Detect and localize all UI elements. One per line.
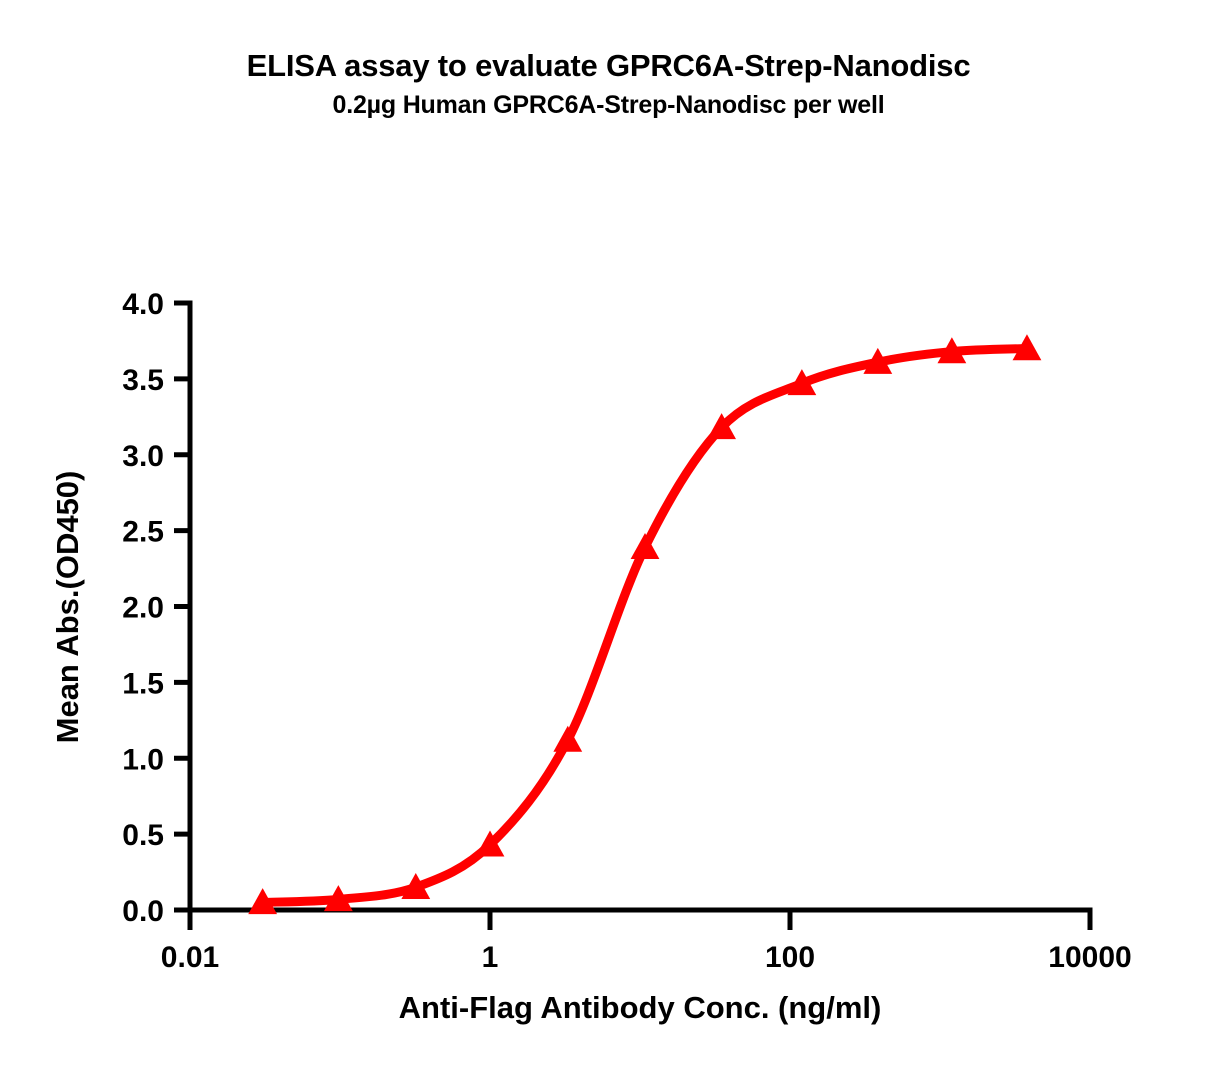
x-tick-label: 10000 bbox=[1048, 941, 1131, 974]
x-tick-label: 100 bbox=[765, 941, 815, 974]
y-axis-title: Mean Abs.(OD450) bbox=[50, 471, 85, 744]
y-tick-label: 3.5 bbox=[122, 364, 164, 397]
y-axis-tick-labels: 0.00.51.01.52.02.53.03.54.0 bbox=[122, 288, 164, 928]
data-point-marker bbox=[553, 726, 582, 752]
series-line bbox=[263, 349, 1027, 903]
y-tick-label: 2.0 bbox=[122, 592, 164, 625]
x-axis-ticks bbox=[190, 910, 1090, 930]
y-tick-label: 1.0 bbox=[122, 743, 164, 776]
data-series-group bbox=[248, 334, 1041, 914]
y-tick-label: 1.5 bbox=[122, 667, 164, 700]
x-axis-title: Anti-Flag Antibody Conc. (ng/ml) bbox=[399, 990, 882, 1025]
y-tick-label: 0.5 bbox=[122, 819, 164, 852]
y-tick-label: 0.0 bbox=[122, 895, 164, 928]
y-tick-label: 4.0 bbox=[122, 288, 164, 321]
x-axis-tick-labels: 0.01110010000 bbox=[161, 941, 1132, 974]
elisa-chart-figure: ELISA assay to evaluate GPRC6A-Strep-Nan… bbox=[0, 0, 1217, 1079]
y-tick-label: 3.0 bbox=[122, 440, 164, 473]
x-tick-label: 1 bbox=[482, 941, 499, 974]
plot-area: 0.00.51.01.52.02.53.03.54.0 0.0111001000… bbox=[0, 0, 1217, 1079]
axes-group: 0.00.51.01.52.02.53.03.54.0 0.0111001000… bbox=[122, 288, 1131, 974]
x-tick-label: 0.01 bbox=[161, 941, 219, 974]
y-tick-label: 2.5 bbox=[122, 516, 164, 549]
